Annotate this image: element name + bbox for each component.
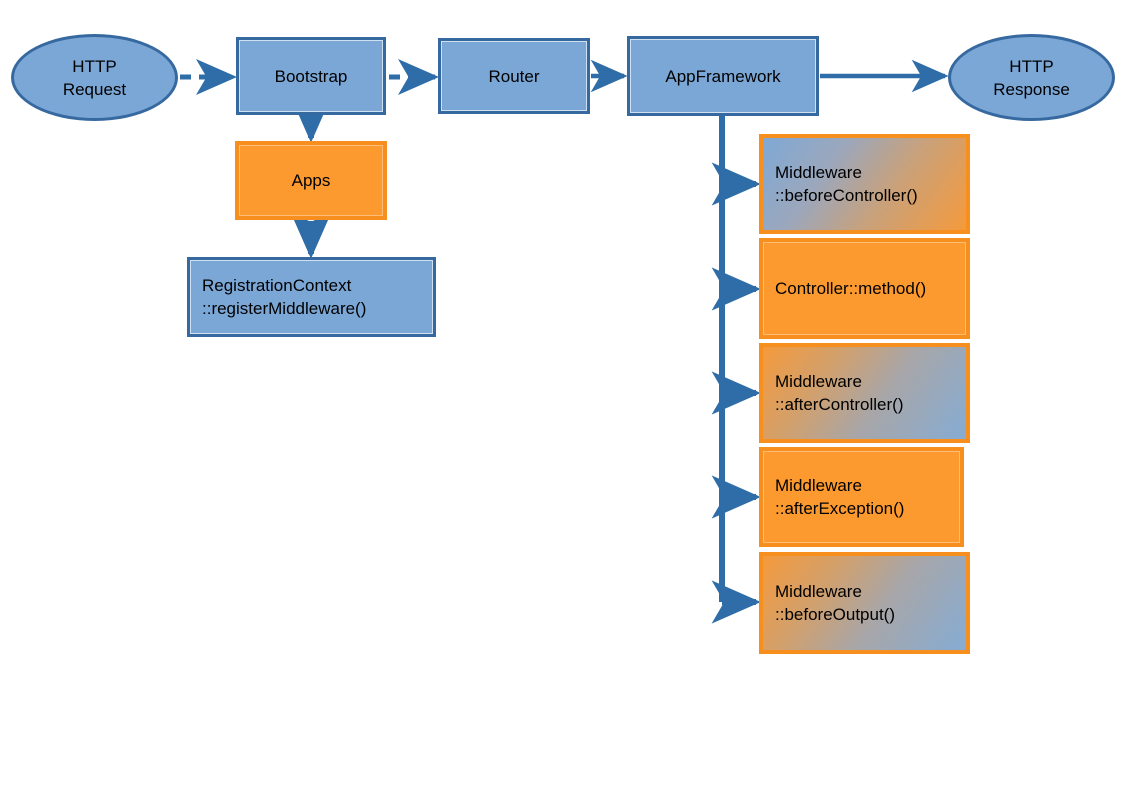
node-http-response[interactable]: HTTP Response: [948, 34, 1115, 121]
node-before-output[interactable]: Middleware ::beforeOutput(): [759, 552, 970, 654]
node-bootstrap[interactable]: Bootstrap: [236, 37, 386, 115]
node-before-controller[interactable]: Middleware ::beforeController(): [759, 134, 970, 234]
node-http-request[interactable]: HTTP Request: [11, 34, 178, 121]
node-after-exception[interactable]: Middleware ::afterException(): [759, 447, 964, 547]
node-after-controller[interactable]: Middleware ::afterController(): [759, 343, 970, 443]
node-apps[interactable]: Apps: [235, 141, 387, 220]
node-registration-context[interactable]: RegistrationContext ::registerMiddleware…: [187, 257, 436, 337]
node-router[interactable]: Router: [438, 38, 590, 114]
node-controller-method[interactable]: Controller::method(): [759, 238, 970, 339]
node-app-framework[interactable]: AppFramework: [627, 36, 819, 116]
